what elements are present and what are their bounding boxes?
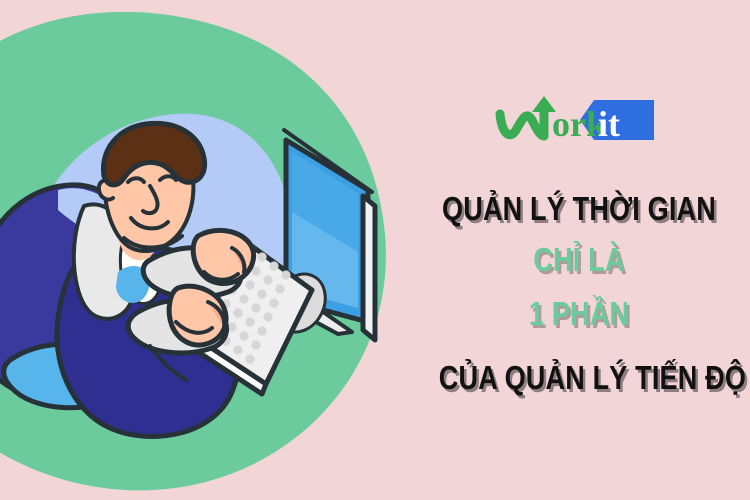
monitor-right-bezel (363, 196, 375, 340)
headline-line-1: QUẢN LÝ THỜI GIAN (439, 192, 719, 225)
man-hand-upper (193, 230, 253, 283)
logo-word-badge: it (598, 104, 620, 144)
headline-line-2: CHỈ LÀ (439, 243, 719, 276)
text-column: ork it Work it QUẢN LÝ THỜI GIAN CHỈ LÀ … (408, 0, 750, 500)
workit-logo[interactable]: ork it Work it (408, 92, 750, 148)
illustration-panel (0, 0, 420, 500)
poster-canvas: ork it Work it QUẢN LÝ THỜI GIAN CHỈ LÀ … (0, 0, 750, 500)
headline-line-3: 1 PHẦN (439, 297, 719, 330)
headline-line-4: CỦA QUẢN LÝ TIẾN ĐỘ (439, 361, 719, 394)
